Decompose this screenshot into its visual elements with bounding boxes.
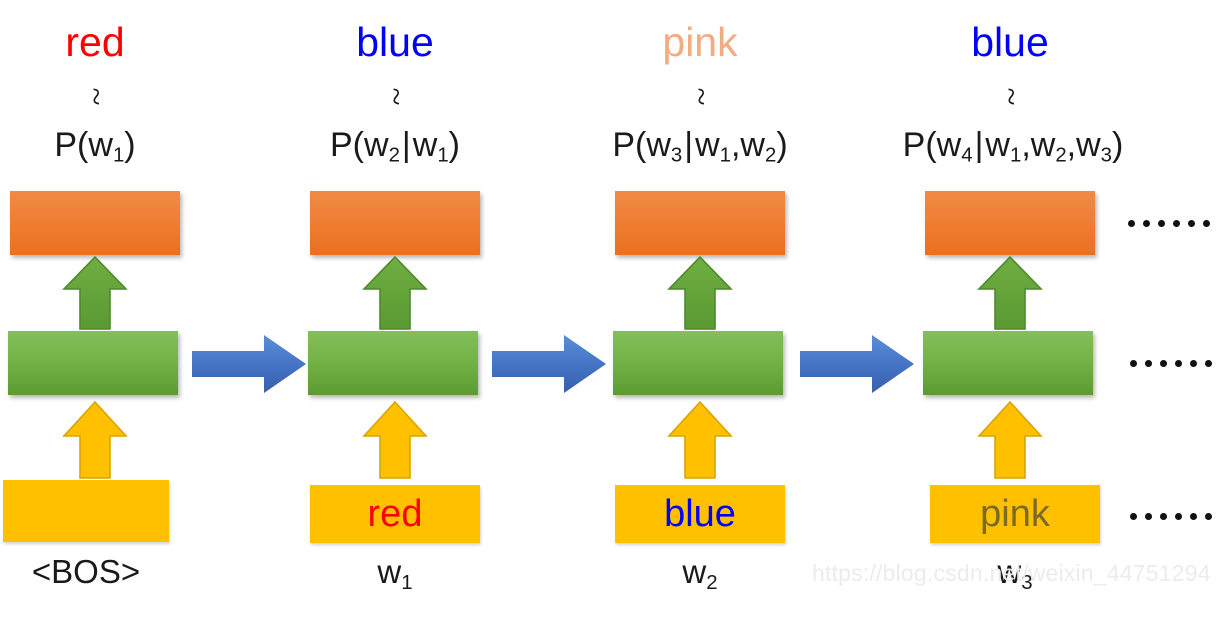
input-box-label-step2: red xyxy=(368,495,423,533)
input-box-step3: blue xyxy=(615,485,785,543)
ellipsis-dot xyxy=(1205,360,1212,367)
green-up-arrow-step1 xyxy=(62,255,128,331)
ellipsis-dot xyxy=(1190,360,1197,367)
probability-label-step3: P(w3|w1,w2) xyxy=(585,128,815,166)
yellow-up-arrow-step4 xyxy=(977,400,1043,480)
probability-label-step1: P(w1) xyxy=(0,128,190,166)
ellipsis-dot xyxy=(1160,360,1167,367)
csdn-watermark: https://blog.csdn.net/weixin_44751294 xyxy=(812,562,1211,585)
yellow-up-arrow-step3 xyxy=(667,400,733,480)
green-up-arrow-step3 xyxy=(667,255,733,331)
ellipsis-dot xyxy=(1130,360,1137,367)
hidden-box-step2 xyxy=(308,331,478,395)
input-box-label-step3: blue xyxy=(664,495,736,533)
ellipsis-dot xyxy=(1175,360,1182,367)
caption-step1: <BOS> xyxy=(0,555,172,588)
output-box-step4 xyxy=(925,191,1095,255)
hidden-box-step3 xyxy=(613,331,783,395)
caption-step2: w1 xyxy=(310,555,480,594)
ellipsis-dot xyxy=(1190,513,1197,520)
ellipsis-output-row xyxy=(1128,220,1210,227)
hidden-box-step1 xyxy=(8,331,178,395)
ellipsis-dot xyxy=(1205,513,1212,520)
ellipsis-dot xyxy=(1143,220,1150,227)
output-box-step1 xyxy=(10,191,180,255)
ellipsis-input-row xyxy=(1130,513,1212,520)
green-up-arrow-step2 xyxy=(362,255,428,331)
recurrent-arrow-step1-to-step2 xyxy=(190,333,308,395)
probability-label-step2: P(w2|w1) xyxy=(295,128,495,166)
input-box-step2: red xyxy=(310,485,480,543)
ellipsis-dot xyxy=(1203,220,1210,227)
output-box-step3 xyxy=(615,191,785,255)
ellipsis-dot xyxy=(1173,220,1180,227)
ellipsis-hidden-row xyxy=(1130,360,1212,367)
yellow-up-arrow-step2 xyxy=(362,400,428,480)
input-box-step4: pink xyxy=(930,485,1100,543)
diagram-canvas: red ~ P(w1) <BOS> blue ~ P(w2|w1) xyxy=(0,0,1220,617)
probability-label-step4: P(w4|w1,w2,w3) xyxy=(868,128,1158,166)
output-box-step2 xyxy=(310,191,480,255)
recurrent-arrow-step2-to-step3 xyxy=(490,333,608,395)
input-box-label-step4: pink xyxy=(980,495,1050,533)
caption-step3: w2 xyxy=(615,555,785,594)
ellipsis-dot xyxy=(1130,513,1137,520)
ellipsis-dot xyxy=(1145,513,1152,520)
input-box-step1 xyxy=(3,480,169,542)
recurrent-arrow-step3-to-step4 xyxy=(798,333,916,395)
ellipsis-dot xyxy=(1188,220,1195,227)
yellow-up-arrow-step1 xyxy=(62,400,128,480)
hidden-box-step4 xyxy=(923,331,1093,395)
ellipsis-dot xyxy=(1158,220,1165,227)
ellipsis-dot xyxy=(1160,513,1167,520)
green-up-arrow-step4 xyxy=(977,255,1043,331)
ellipsis-dot xyxy=(1175,513,1182,520)
ellipsis-dot xyxy=(1128,220,1135,227)
ellipsis-dot xyxy=(1145,360,1152,367)
